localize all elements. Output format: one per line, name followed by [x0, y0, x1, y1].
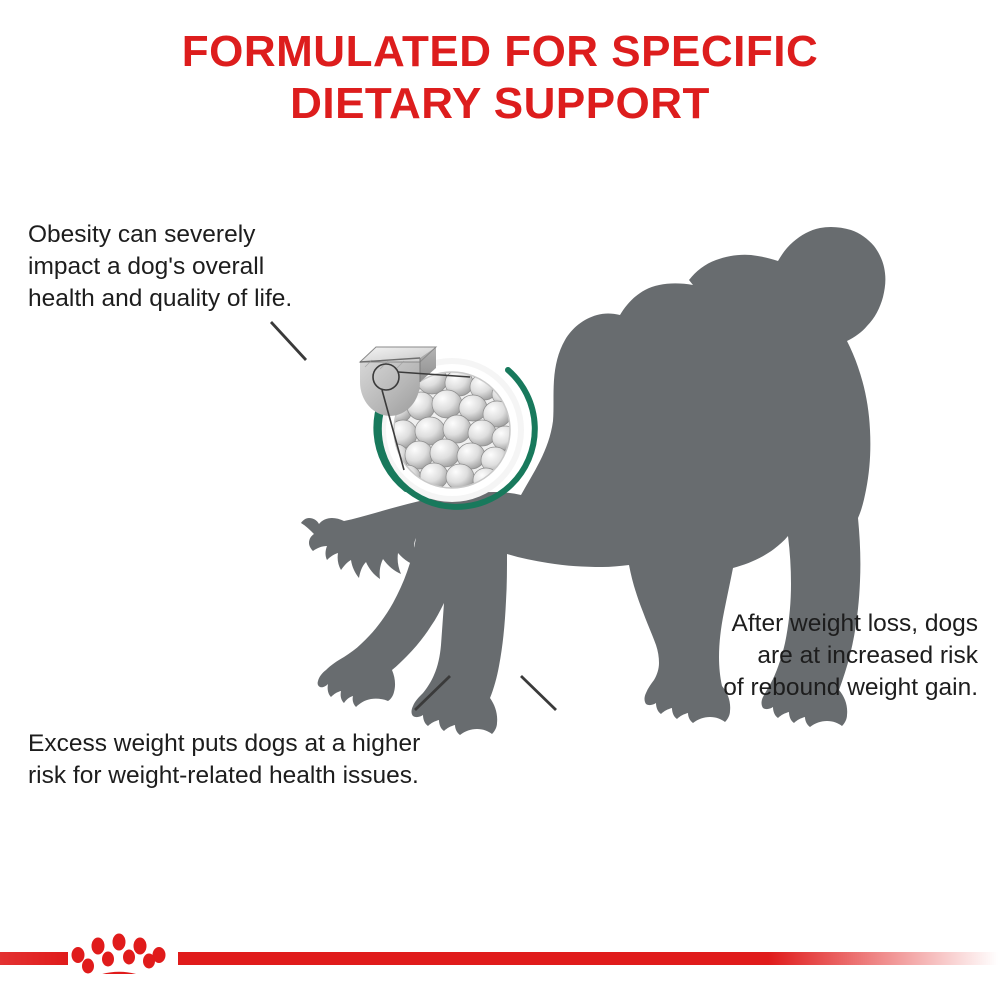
callout-line: of rebound weight gain. — [723, 672, 978, 704]
brand-bar-left-stripe — [0, 952, 68, 965]
callout-excess-weight-risk: Excess weight puts dogs at a higher risk… — [28, 728, 420, 792]
infographic-canvas: FORMULATED FOR SPECIFIC DIETARY SUPPORT — [0, 0, 1000, 1000]
callout-line: After weight loss, dogs — [723, 608, 978, 640]
callout-line: impact a dog's overall — [28, 251, 292, 283]
callout-line: Excess weight puts dogs at a higher — [28, 728, 420, 760]
callout-obesity-impact: Obesity can severely impact a dog's over… — [28, 219, 292, 315]
royal-canin-brand-bar — [0, 928, 1000, 974]
illustration-group — [0, 0, 1000, 1000]
brand-bar-right-stripe — [178, 952, 998, 965]
callout-rebound-weight-gain: After weight loss, dogs are at increased… — [723, 608, 978, 704]
callout-line: risk for weight-related health issues. — [28, 760, 420, 792]
callout-line: health and quality of life. — [28, 283, 292, 315]
royal-canin-crown-logo — [72, 934, 166, 975]
callout-line: Obesity can severely — [28, 219, 292, 251]
callout-line: are at increased risk — [723, 640, 978, 672]
